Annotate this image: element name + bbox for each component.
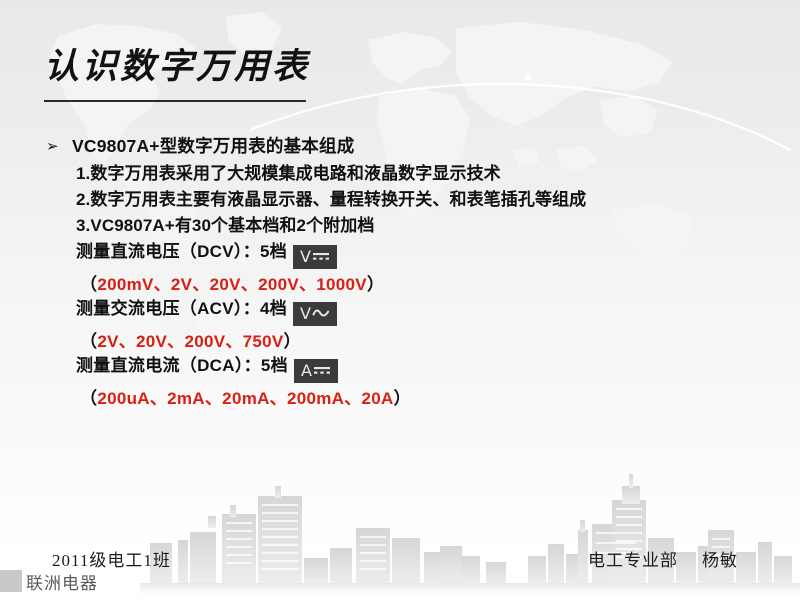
- numbered-line-2: 2.数字万用表主要有液晶显示器、量程转换开关、和表笔插孔等组成: [46, 191, 786, 208]
- measurement-label-dca-text: 测量直流电流（DCA）：5档: [76, 356, 288, 375]
- measurement-values-dcv-text: 200mV、2V、20V、200V、1000V: [97, 275, 367, 294]
- dc-voltage-icon: V: [293, 245, 337, 269]
- measurement-label-acv: 测量交流电压（ACV）：4档V: [46, 300, 786, 326]
- measurement-values-acv: （2V、20V、200V、750V）: [46, 333, 786, 350]
- measurement-values-dca-text: 200uA、2mA、20mA、200mA、20A: [97, 389, 393, 408]
- values-close-paren: ）: [284, 332, 301, 351]
- ac-voltage-icon: V: [293, 302, 337, 326]
- measurement-values-acv-text: 2V、20V、200V、750V: [97, 332, 283, 351]
- values-close-paren: ）: [394, 389, 411, 408]
- dc-voltage-icon-letter: V: [300, 247, 312, 266]
- footer-department: 电工专业部: [588, 551, 678, 570]
- watermark-text: 联洲电器: [26, 569, 98, 594]
- dc-symbol-icon: [313, 364, 331, 376]
- page-title: 认识数字万用表: [44, 48, 644, 87]
- values-open-paren: （: [80, 332, 97, 351]
- footer-author: 杨敏: [702, 551, 738, 570]
- slide-title-text: 认识数字万用表: [44, 48, 644, 87]
- footer-department-author: 电工专业部杨敏: [588, 546, 738, 571]
- ac-symbol-icon: [312, 307, 330, 319]
- slide-content: ➢VC9807A+型数字万用表的基本组成 1.数字万用表采用了大规模集成电路和液…: [46, 138, 786, 414]
- dc-current-icon: A: [294, 359, 338, 383]
- values-close-paren: ）: [367, 275, 384, 294]
- numbered-line-1: 1.数字万用表采用了大规模集成电路和液晶数字显示技术: [46, 165, 786, 182]
- dc-current-icon-letter: A: [301, 361, 313, 380]
- watermark-logo-icon: [0, 570, 22, 592]
- values-open-paren: （: [80, 275, 97, 294]
- content-heading-text: VC9807A+型数字万用表的基本组成: [72, 136, 354, 156]
- numbered-line-3: 3.VC9807A+有30个基本档和2个附加档: [46, 217, 786, 234]
- measurement-label-dcv-text: 测量直流电压（DCV）：5档: [76, 242, 287, 261]
- watermark: 联洲电器: [0, 566, 98, 596]
- content-heading: ➢VC9807A+型数字万用表的基本组成: [46, 138, 786, 156]
- title-underline-rule: [44, 100, 306, 102]
- values-open-paren: （: [80, 389, 97, 408]
- slide-canvas: 认识数字万用表 ➢VC9807A+型数字万用表的基本组成 1.数字万用表采用了大…: [0, 0, 800, 600]
- measurement-label-dcv: 测量直流电压（DCV）：5档V: [46, 243, 786, 269]
- ac-voltage-icon-letter: V: [300, 304, 312, 323]
- measurement-values-dcv: （200mV、2V、20V、200V、1000V）: [46, 276, 786, 293]
- measurement-values-dca: （200uA、2mA、20mA、200mA、20A）: [46, 390, 786, 407]
- dc-symbol-icon: [312, 250, 330, 262]
- bullet-arrow-icon: ➢: [46, 139, 72, 154]
- measurement-label-dca: 测量直流电流（DCA）：5档A: [46, 357, 786, 383]
- measurement-label-acv-text: 测量交流电压（ACV）：4档: [76, 299, 287, 318]
